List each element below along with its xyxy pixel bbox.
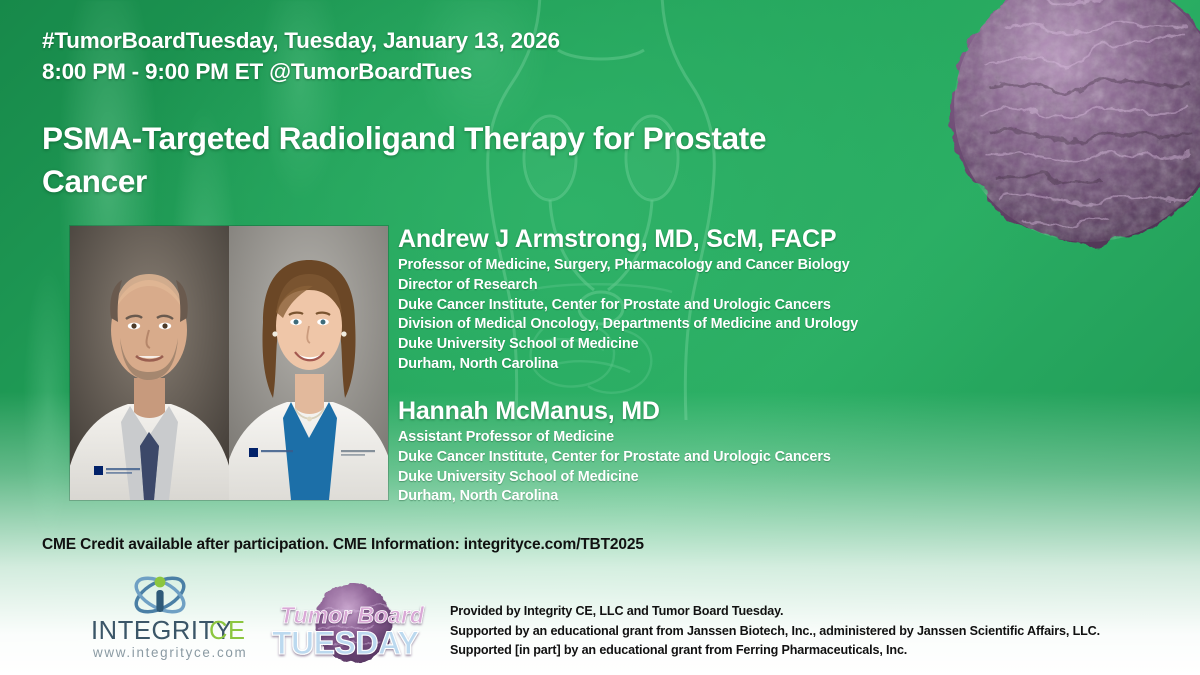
support-line: Supported by an educational grant from J… xyxy=(450,622,1100,642)
event-header: #TumorBoardTuesday, Tuesday, January 13,… xyxy=(42,25,560,87)
photo-hannah-mcmanus xyxy=(229,226,388,500)
faculty-credential: Duke University School of Medicine xyxy=(398,468,831,488)
faculty-credential: Assistant Professor of Medicine xyxy=(398,428,831,448)
faculty-credential: Professor of Medicine, Surgery, Pharmaco… xyxy=(398,256,858,276)
promo-slide: #TumorBoardTuesday, Tuesday, January 13,… xyxy=(0,0,1200,675)
cme-credit-note: CME Credit available after participation… xyxy=(42,536,644,554)
ce-wordmark: CE xyxy=(209,617,246,645)
integrity-url: www.integrityce.com xyxy=(92,645,247,660)
photo-andrew-armstrong xyxy=(70,226,229,500)
page-title: PSMA-Targeted Radioligand Therapy for Pr… xyxy=(42,117,872,203)
faculty-credential: Durham, North Carolina xyxy=(398,355,858,375)
integrity-ce-logo[interactable]: INTEGRITY CE www.integrityce.com xyxy=(85,573,270,665)
faculty-name-1: Andrew J Armstrong, MD, ScM, FACP xyxy=(398,222,858,256)
support-line: Supported [in part] by an educational gr… xyxy=(450,641,1100,661)
faculty-name-2: Hannah McManus, MD xyxy=(398,394,831,428)
faculty-block-2: Hannah McManus, MD Assistant Professor o… xyxy=(398,394,831,507)
tbt-line2: TUESDAY xyxy=(272,625,419,661)
faculty-credential: Duke Cancer Institute, Center for Prosta… xyxy=(398,296,858,316)
faculty-photos xyxy=(70,226,388,500)
support-statement: Provided by Integrity CE, LLC and Tumor … xyxy=(450,602,1100,661)
faculty-credential: Duke University School of Medicine xyxy=(398,335,858,355)
faculty-credential: Director of Research xyxy=(398,276,858,296)
faculty-block-1: Andrew J Armstrong, MD, ScM, FACP Profes… xyxy=(398,222,858,375)
faculty-credential: Durham, North Carolina xyxy=(398,487,831,507)
faculty-credential: Division of Medical Oncology, Department… xyxy=(398,315,858,335)
support-line: Provided by Integrity CE, LLC and Tumor … xyxy=(450,602,1100,622)
event-date-line: #TumorBoardTuesday, Tuesday, January 13,… xyxy=(42,25,560,56)
event-time-line: 8:00 PM - 9:00 PM ET @TumorBoardTues xyxy=(42,56,560,87)
tumor-cell-illustration xyxy=(938,0,1200,258)
tumor-board-tuesday-logo[interactable]: Tumor Board TUESDAY xyxy=(262,583,430,665)
faculty-credential: Duke Cancer Institute, Center for Prosta… xyxy=(398,448,831,468)
